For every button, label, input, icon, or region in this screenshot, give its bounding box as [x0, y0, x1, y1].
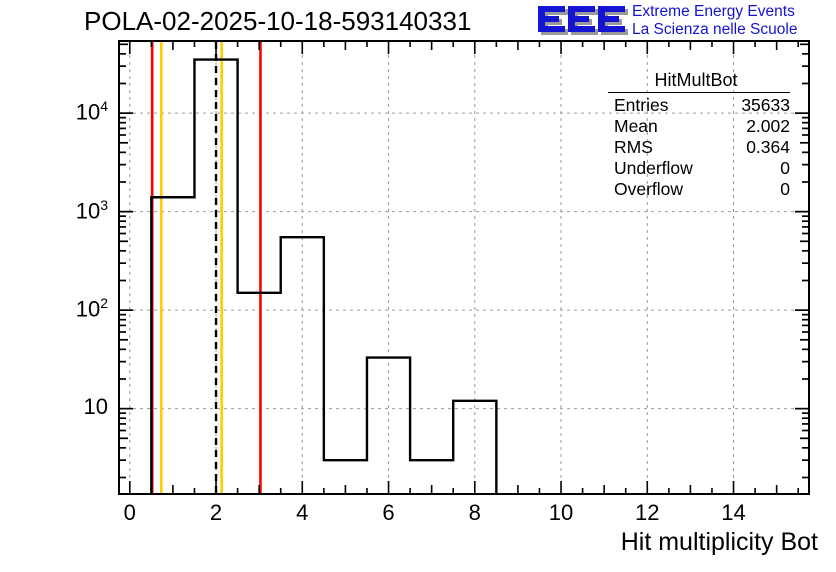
- stats-value: 0: [780, 179, 790, 200]
- stats-key: Mean: [614, 116, 658, 137]
- eee-logo-text: Extreme Energy Events La Scienza nelle S…: [632, 3, 797, 39]
- stats-row: Entries35633: [600, 95, 792, 116]
- x-axis-tick-label: 4: [296, 500, 308, 526]
- stats-row: Mean2.002: [600, 116, 792, 137]
- y-axis-tick-label: 102: [34, 295, 108, 322]
- eee-logo-line1: Extreme Energy Events: [632, 3, 797, 21]
- stats-value: 0: [780, 158, 790, 179]
- y-axis-tick-label: 104: [34, 98, 108, 125]
- root-canvas: POLA-02-2025-10-18-593140331: [0, 0, 836, 572]
- x-axis-tick-label: 0: [124, 500, 136, 526]
- stats-divider: [608, 92, 790, 93]
- stats-title: HitMultBot: [600, 70, 792, 92]
- stats-row: RMS0.364: [600, 137, 792, 158]
- stats-row: Overflow0: [600, 179, 792, 200]
- x-axis-tick-label: 14: [721, 500, 745, 526]
- y-axis-tick-label: 10: [34, 394, 108, 420]
- y-axis-tick-label: 103: [34, 197, 108, 224]
- x-axis-tick-label: 6: [382, 500, 394, 526]
- stats-value: 0.364: [746, 137, 790, 158]
- stats-box: HitMultBot Entries35633Mean2.002RMS0.364…: [600, 70, 792, 200]
- stats-value: 35633: [741, 95, 790, 116]
- stats-key: Underflow: [614, 158, 693, 179]
- stats-rows: Entries35633Mean2.002RMS0.364Underflow0O…: [600, 95, 792, 200]
- stats-key: Entries: [614, 95, 668, 116]
- stats-key: RMS: [614, 137, 653, 158]
- x-axis-tick-label: 2: [210, 500, 222, 526]
- eee-logo-mark-icon: [536, 4, 628, 38]
- x-axis-tick-label: 8: [469, 500, 481, 526]
- page-title: POLA-02-2025-10-18-593140331: [84, 6, 471, 37]
- eee-logo-line2: La Scienza nelle Scuole: [632, 21, 797, 39]
- stats-value: 2.002: [746, 116, 790, 137]
- x-axis-tick-label: 12: [635, 500, 659, 526]
- x-axis-tick-label: 10: [549, 500, 573, 526]
- x-axis-title: Hit multiplicity Bot: [621, 528, 818, 557]
- stats-row: Underflow0: [600, 158, 792, 179]
- eee-logo: Extreme Energy Events La Scienza nelle S…: [536, 2, 836, 42]
- stats-key: Overflow: [614, 179, 683, 200]
